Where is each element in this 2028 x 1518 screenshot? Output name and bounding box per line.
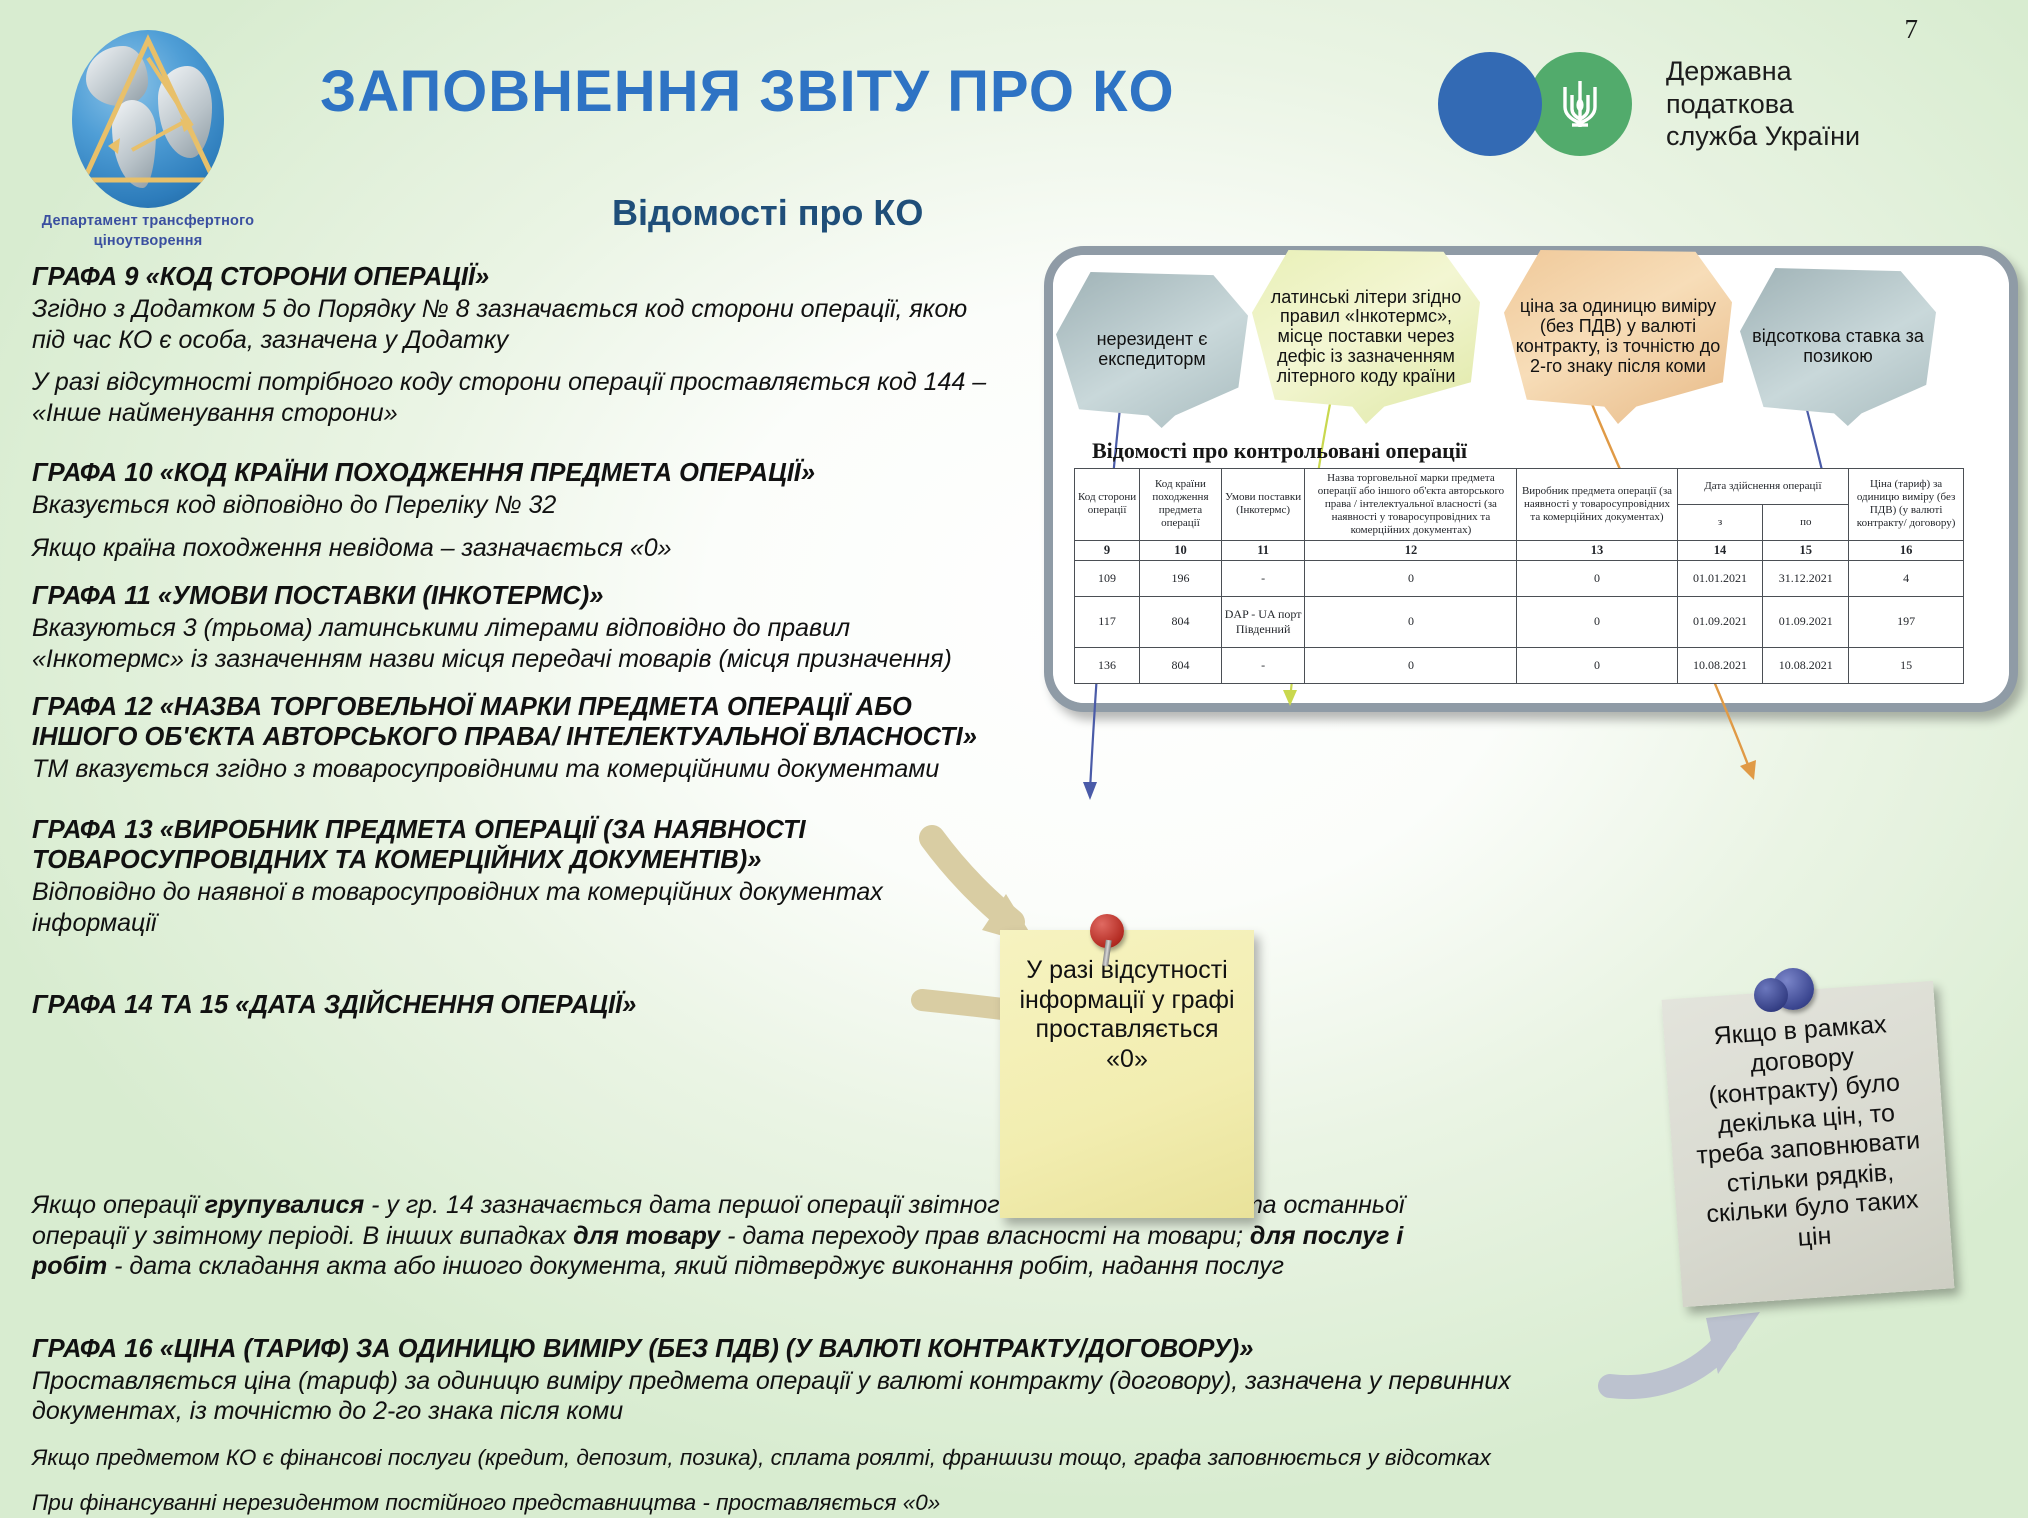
- tax-logo-line2: податкова: [1666, 88, 1860, 121]
- triangle-arrows-icon: [72, 30, 224, 208]
- cell: 0: [1517, 560, 1677, 596]
- graf14-bold-grupuvalysia: групувалися: [205, 1191, 364, 1219]
- section-graf-13: ГРАФА 13 «ВИРОБНИК ПРЕДМЕТА ОПЕРАЦІЇ (ЗА…: [32, 815, 962, 938]
- col-num: 10: [1140, 540, 1222, 560]
- col-num: 15: [1763, 540, 1849, 560]
- sticky-note-multiple-prices: Якщо в рамках договору (контракту) було …: [1662, 981, 1955, 1307]
- section-heading: ГРАФА 11 «УМОВИ ПОСТАВКИ (ІНКОТЕРМС)»: [32, 581, 992, 611]
- table-title: Відомості про контрольовані операції: [1092, 438, 1467, 464]
- page-number: 7: [1905, 14, 1919, 45]
- logo-caption-line1: Департамент трансфертного: [42, 213, 254, 229]
- cell: 01.01.2021: [1677, 560, 1763, 596]
- section-paragraph: У разі відсутності потрібного коду сторо…: [32, 367, 992, 428]
- th-date-from: з: [1677, 504, 1763, 540]
- cell: DAP - UA порт Південний: [1221, 596, 1305, 647]
- cell: -: [1221, 560, 1305, 596]
- table-row: 109 196 - 0 0 01.01.2021 31.12.2021 4: [1075, 560, 1964, 596]
- cell: 10.08.2021: [1677, 647, 1763, 683]
- page-title: ЗАПОВНЕННЯ ЗВІТУ ПРО КО: [320, 58, 1175, 125]
- th-code-party: Код сторони операції: [1075, 469, 1140, 541]
- th-manufacturer: Виробник предмета операції (за наявності…: [1517, 469, 1677, 541]
- trident-icon: [1554, 73, 1606, 135]
- col-num: 14: [1677, 540, 1763, 560]
- section-paragraph: Згідно з Додатком 5 до Порядку № 8 зазна…: [32, 294, 992, 355]
- section-paragraph: Відповідно до наявної в товаросупровідни…: [32, 877, 962, 938]
- cell: 31.12.2021: [1763, 560, 1849, 596]
- section-heading: ГРАФА 9 «КОД СТОРОНИ ОПЕРАЦІЇ»: [32, 262, 992, 292]
- cell: 10.08.2021: [1763, 647, 1849, 683]
- blue-pin-icon: [1772, 968, 1814, 1010]
- section-graf-10: ГРАФА 10 «КОД КРАЇНИ ПОХОДЖЕННЯ ПРЕДМЕТА…: [32, 458, 992, 563]
- table-number-row: 9 10 11 12 13 14 15 16: [1075, 540, 1964, 560]
- bottom-instructions: Якщо операції групувалися - у гр. 14 заз…: [32, 1188, 1632, 1517]
- cell: 804: [1140, 596, 1222, 647]
- th-delivery-terms: Умови поставки (Інкотермс): [1221, 469, 1305, 541]
- cell: 197: [1849, 596, 1964, 647]
- cell: 0: [1517, 596, 1677, 647]
- cell: 0: [1517, 647, 1677, 683]
- cell: 4: [1849, 560, 1964, 596]
- col-num: 16: [1849, 540, 1964, 560]
- department-logo: Департамент трансфертного ціноутворення: [28, 30, 268, 251]
- graf16-heading: ГРАФА 16 «ЦІНА (ТАРИФ) ЗА ОДИНИЦЮ ВИМІРУ…: [32, 1334, 1632, 1364]
- cell: 196: [1140, 560, 1222, 596]
- logo-caption-line2: ціноутворення: [94, 233, 203, 249]
- section-graf-12: ГРАФА 12 «НАЗВА ТОРГОВЕЛЬНОЇ МАРКИ ПРЕДМ…: [32, 692, 992, 785]
- section-paragraph: Якщо країна походження невідома – зазнач…: [32, 533, 992, 564]
- col-num: 13: [1517, 540, 1677, 560]
- section-graf-11: ГРАФА 11 «УМОВИ ПОСТАВКИ (ІНКОТЕРМС)» Вк…: [32, 581, 992, 674]
- graf14-part-a: Якщо операції: [32, 1191, 205, 1219]
- graf14-bold-dlia-tovaru: для товару: [573, 1222, 720, 1250]
- controlled-operations-table: Код сторони операції Код країни походжен…: [1074, 468, 1964, 684]
- col-num: 12: [1305, 540, 1517, 560]
- cell: 01.09.2021: [1763, 596, 1849, 647]
- graf16-paragraph-1: Проставляється ціна (тариф) за одиницю в…: [32, 1366, 1592, 1427]
- graf14-part-g: - дата складання акта або іншого докумен…: [107, 1252, 1284, 1280]
- table-header-row: Код сторони операції Код країни походжен…: [1075, 469, 1964, 505]
- tax-logo-line3: служба України: [1666, 120, 1860, 153]
- cell: 0: [1305, 560, 1517, 596]
- blue-circle-icon: [1438, 52, 1542, 156]
- graf14-paragraph: Якщо операції групувалися - у гр. 14 заз…: [32, 1190, 1472, 1282]
- th-price-per-unit: Ціна (тариф) за одиницю виміру (без ПДВ)…: [1849, 469, 1964, 541]
- tax-service-logo: Державна податкова служба України: [1438, 52, 1860, 156]
- th-operation-date: Дата здійснення операції: [1677, 469, 1849, 505]
- section-paragraph: Вказуються 3 (трьома) латинськими літера…: [32, 613, 992, 674]
- cell: 136: [1075, 647, 1140, 683]
- cell: 15: [1849, 647, 1964, 683]
- green-circle-icon: [1528, 52, 1632, 156]
- section-heading: ГРАФА 14 ТА 15 «ДАТА ЗДІЙСНЕННЯ ОПЕРАЦІЇ…: [32, 990, 992, 1020]
- cell: 109: [1075, 560, 1140, 596]
- instructions-column: ГРАФА 9 «КОД СТОРОНИ ОПЕРАЦІЇ» Згідно з …: [32, 262, 992, 1038]
- cell: 804: [1140, 647, 1222, 683]
- cell: -: [1221, 647, 1305, 683]
- col-num: 9: [1075, 540, 1140, 560]
- cell: 117: [1075, 596, 1140, 647]
- red-pin-icon: [1090, 914, 1124, 948]
- col-num: 11: [1221, 540, 1305, 560]
- graf16-paragraph-2: Якщо предметом КО є фінансові послуги (к…: [32, 1443, 1632, 1472]
- page-subtitle: Відомості про КО: [612, 192, 923, 234]
- section-heading: ГРАФА 13 «ВИРОБНИК ПРЕДМЕТА ОПЕРАЦІЇ (ЗА…: [32, 815, 962, 875]
- section-paragraph: ТМ вказується згідно з товаросупровідним…: [32, 754, 992, 785]
- sticky-note-no-info: У разі відсутності інформації у графі пр…: [1000, 930, 1254, 1218]
- section-paragraph: Вказується код відповідно до Переліку № …: [32, 490, 992, 521]
- cell: 0: [1305, 647, 1517, 683]
- tax-logo-line1: Державна: [1666, 55, 1860, 88]
- th-trademark: Назва торговельної марки предмета операц…: [1305, 469, 1517, 541]
- cell: 0: [1305, 596, 1517, 647]
- section-graf-9: ГРАФА 9 «КОД СТОРОНИ ОПЕРАЦІЇ» Згідно з …: [32, 262, 992, 428]
- section-heading: ГРАФА 12 «НАЗВА ТОРГОВЕЛЬНОЇ МАРКИ ПРЕДМ…: [32, 692, 992, 752]
- section-graf-14-15: ГРАФА 14 ТА 15 «ДАТА ЗДІЙСНЕННЯ ОПЕРАЦІЇ…: [32, 990, 992, 1020]
- table-row: 136 804 - 0 0 10.08.2021 10.08.2021 15: [1075, 647, 1964, 683]
- th-country-code: Код країни походження предмета операції: [1140, 469, 1222, 541]
- graf16-paragraph-3: При фінансуванні нерезидентом постійного…: [32, 1488, 1632, 1517]
- th-date-to: по: [1763, 504, 1849, 540]
- cell: 01.09.2021: [1677, 596, 1763, 647]
- section-heading: ГРАФА 10 «КОД КРАЇНИ ПОХОДЖЕННЯ ПРЕДМЕТА…: [32, 458, 992, 488]
- graf14-part-e: - дата переходу прав власності на товари…: [720, 1222, 1250, 1250]
- table-row: 117 804 DAP - UA порт Південний 0 0 01.0…: [1075, 596, 1964, 647]
- globe-icon: [72, 30, 224, 208]
